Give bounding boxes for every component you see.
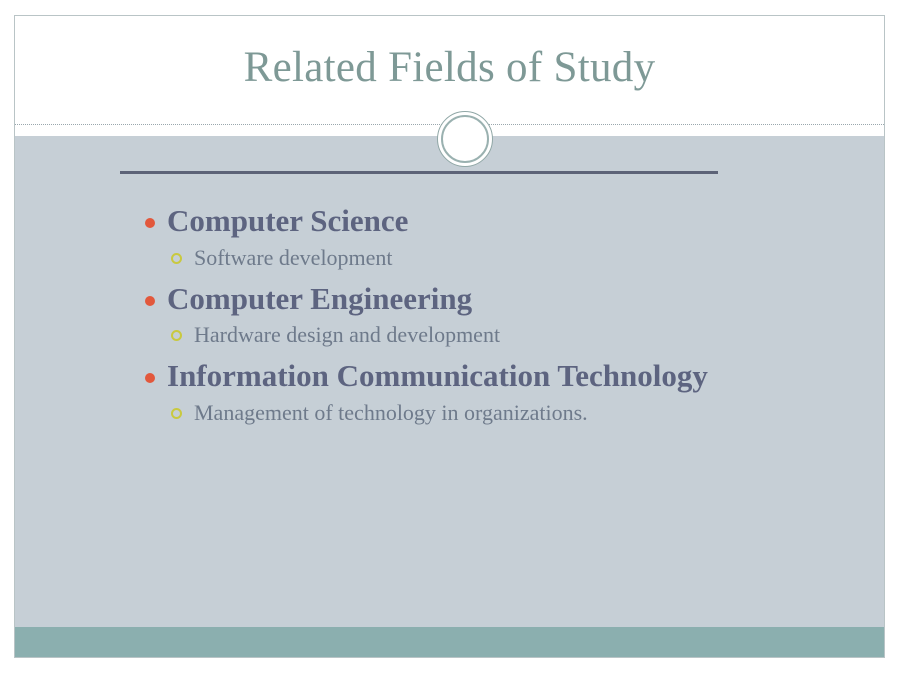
- list-item: Management of technology in organization…: [120, 398, 840, 427]
- bullet-circle-icon: [171, 408, 182, 419]
- list-item: Computer Engineering: [120, 279, 840, 319]
- bullet-circle-icon: [171, 330, 182, 341]
- bullet-dot-icon: [145, 296, 155, 306]
- bullet-list: Computer Science Software development Co…: [120, 201, 840, 434]
- bullet-heading-text: Computer Engineering: [167, 281, 472, 316]
- slide-title: Related Fields of Study: [15, 43, 884, 92]
- bullet-heading-text: Information Communication Technology: [167, 358, 708, 393]
- bullet-heading-text: Computer Science: [167, 203, 408, 238]
- list-item: Hardware design and development: [120, 320, 840, 349]
- bullet-circle-icon: [171, 253, 182, 264]
- bullet-sub-text: Management of technology in organization…: [194, 400, 588, 425]
- ornament-inner-ring: [441, 115, 489, 163]
- bullet-sub-text: Hardware design and development: [194, 322, 500, 347]
- bullet-sub-text: Software development: [194, 245, 393, 270]
- list-item: Computer Science: [120, 201, 840, 241]
- bullet-dot-icon: [145, 218, 155, 228]
- list-item: Information Communication Technology: [120, 356, 727, 396]
- double-circle-ornament-icon: [437, 111, 495, 169]
- list-item: Software development: [120, 243, 840, 272]
- slide-footer-bar: [15, 627, 884, 657]
- presentation-slide: Related Fields of Study Computer Science…: [14, 15, 885, 658]
- bullet-dot-icon: [145, 373, 155, 383]
- content-horizontal-rule: [120, 171, 718, 174]
